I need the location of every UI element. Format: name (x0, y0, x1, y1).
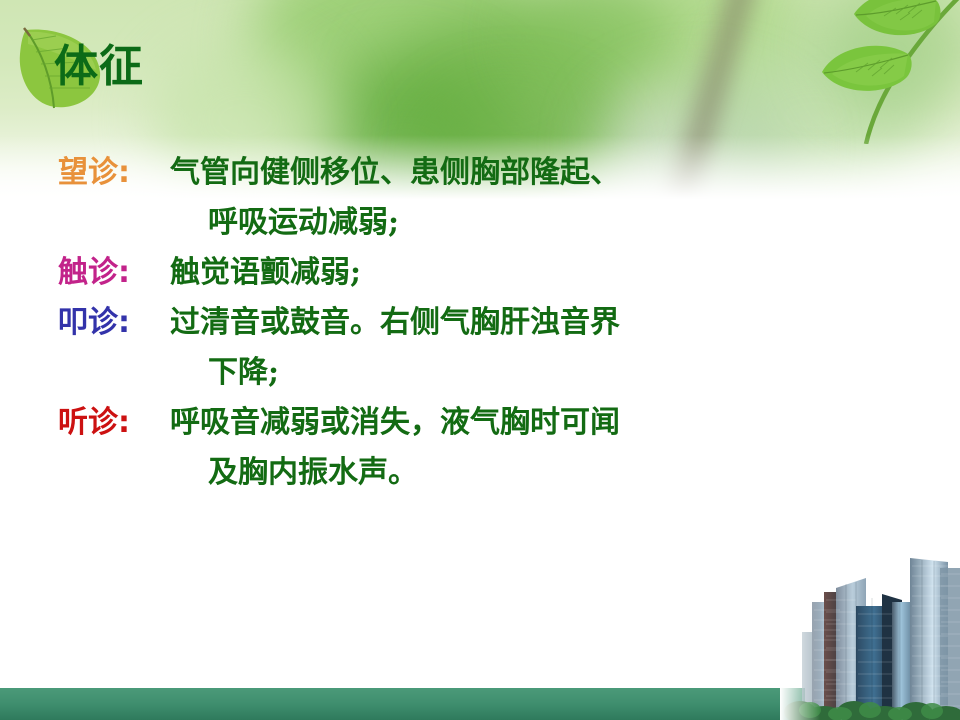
bottom-accent-bar (0, 688, 805, 720)
content-list: 望诊: 气管向健侧移位、患侧胸部隆起、 呼吸运动减弱; 触诊: 触觉语颤减弱; … (0, 148, 960, 498)
city-skyline-image (780, 540, 960, 720)
entry-label-auscultation: 听诊: (0, 398, 170, 448)
entry-label-palpation: 触诊: (0, 248, 170, 298)
entry-text-auscultation: 呼吸音减弱或消失，液气胸时可闻 及胸内振水声。 (170, 398, 620, 498)
slide: 体征 望诊: 气管向健侧移位、患侧胸部隆起、 呼吸运动减弱; 触诊: 触觉语颤减… (0, 0, 960, 720)
page-title: 体征 (54, 45, 144, 89)
entry-line: 触觉语颤减弱; (170, 248, 361, 298)
list-item: 听诊: 呼吸音减弱或消失，液气胸时可闻 及胸内振水声。 (0, 398, 960, 498)
city-fade-overlay (780, 540, 820, 720)
entry-line: 过清音或鼓音。右侧气胸肝浊音界 (170, 298, 620, 348)
list-item: 叩诊: 过清音或鼓音。右侧气胸肝浊音界 下降; (0, 298, 960, 398)
entry-text-palpation: 触觉语颤减弱; (170, 248, 361, 298)
entry-line: 呼吸音减弱或消失，液气胸时可闻 (170, 398, 620, 448)
entry-line: 呼吸运动减弱; (170, 198, 620, 248)
foliage-blur-blob (250, 0, 550, 150)
entry-text-percussion: 过清音或鼓音。右侧气胸肝浊音界 下降; (170, 298, 620, 398)
list-item: 触诊: 触觉语颤减弱; (0, 248, 960, 298)
foliage-blur-blob (520, 0, 670, 100)
entry-label-inspection: 望诊: (0, 148, 170, 198)
entry-text-inspection: 气管向健侧移位、患侧胸部隆起、 呼吸运动减弱; (170, 148, 620, 248)
branch-with-leaves-icon (770, 0, 960, 144)
list-item: 望诊: 气管向健侧移位、患侧胸部隆起、 呼吸运动减弱; (0, 148, 960, 248)
entry-line: 下降; (170, 348, 620, 398)
entry-label-percussion: 叩诊: (0, 298, 170, 348)
entry-line: 及胸内振水声。 (170, 448, 620, 498)
entry-line: 气管向健侧移位、患侧胸部隆起、 (170, 148, 620, 198)
